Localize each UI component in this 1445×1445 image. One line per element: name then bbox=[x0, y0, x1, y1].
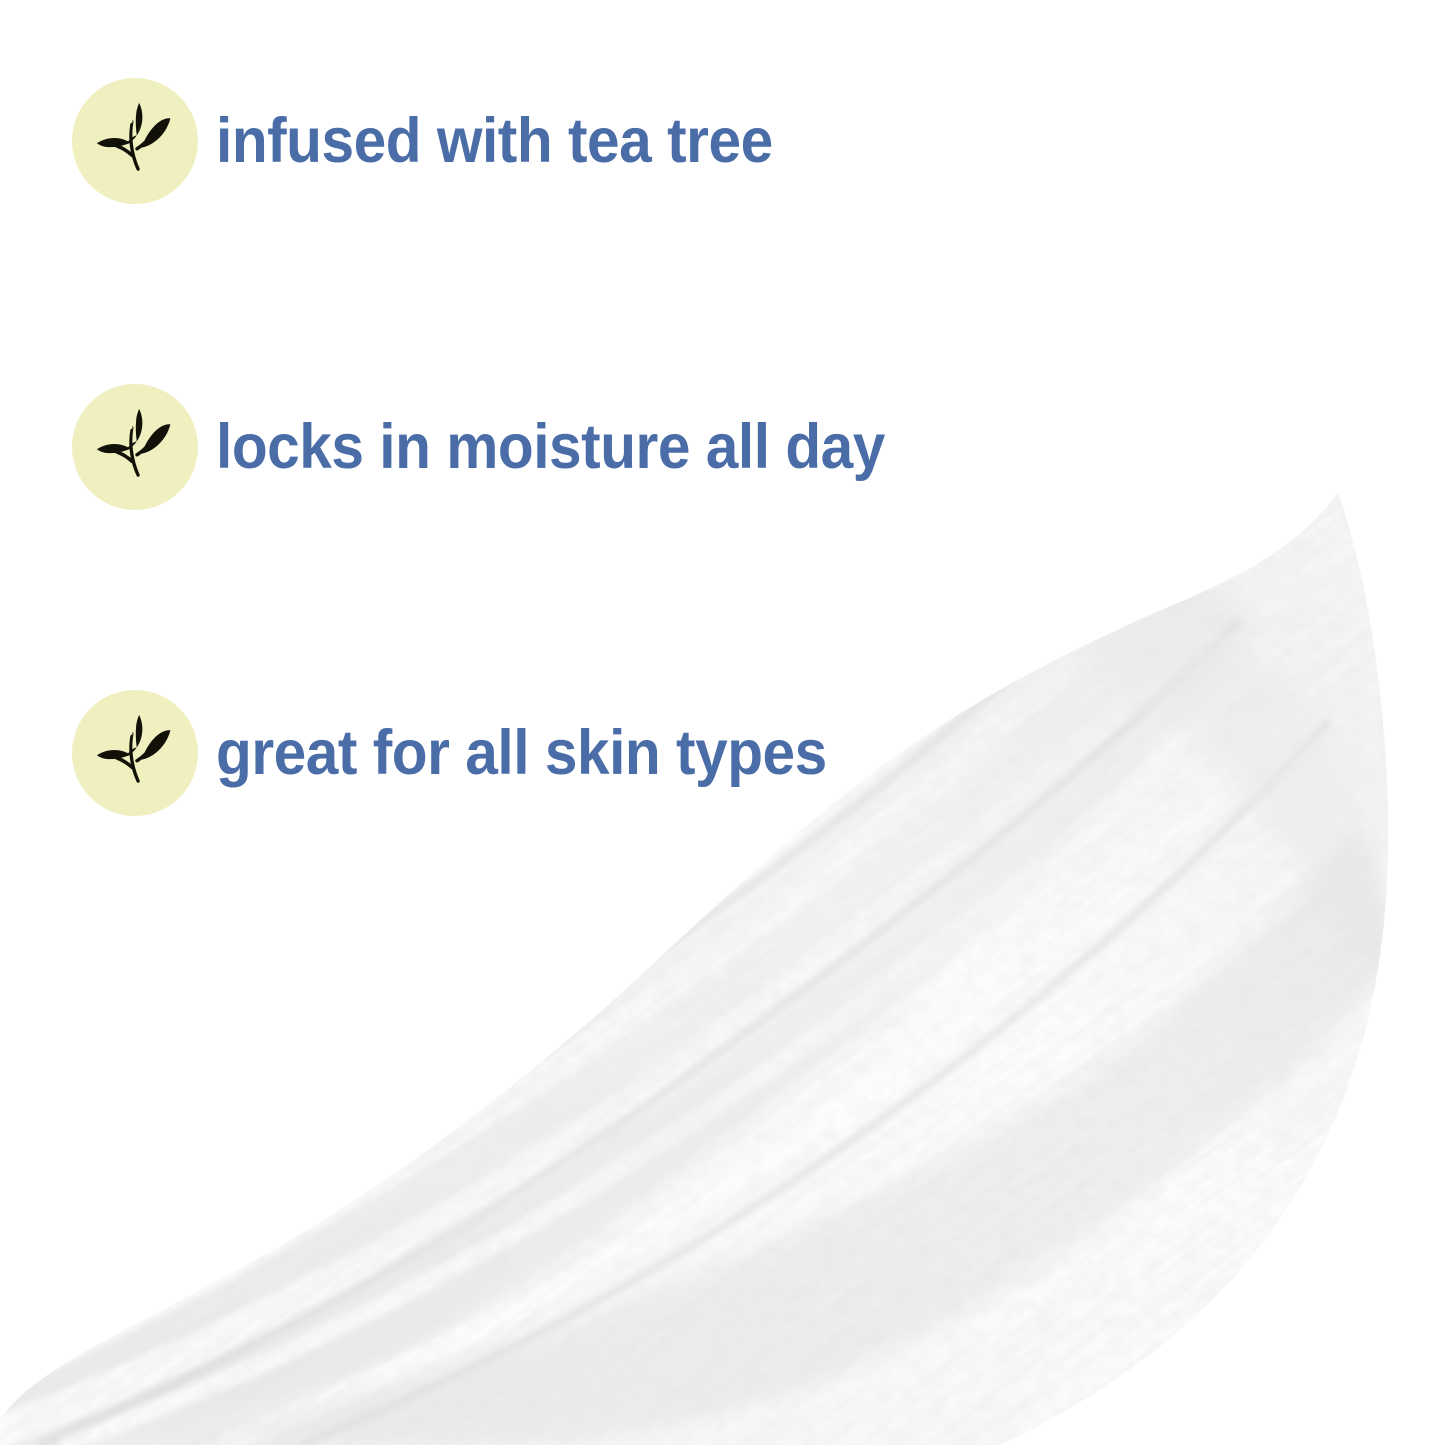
cream-texture-swatch bbox=[0, 430, 1445, 1445]
benefit-label: infused with tea tree bbox=[216, 110, 773, 173]
cream-body bbox=[0, 430, 1445, 1445]
benefit-row: great for all skin types bbox=[72, 690, 873, 816]
tea-leaf-sprig-icon bbox=[89, 401, 181, 493]
tea-leaf-sprig-icon bbox=[89, 707, 181, 799]
tea-leaf-badge bbox=[72, 78, 198, 204]
benefit-row: locks in moisture all day bbox=[72, 384, 935, 510]
benefit-row: infused with tea tree bbox=[72, 78, 815, 204]
tea-leaf-badge bbox=[72, 384, 198, 510]
tea-leaf-badge bbox=[72, 690, 198, 816]
benefit-label: locks in moisture all day bbox=[216, 416, 885, 479]
tea-leaf-sprig-icon bbox=[89, 95, 181, 187]
product-benefits-image: infused with tea tree locks in moisture … bbox=[0, 0, 1445, 1445]
benefit-label: great for all skin types bbox=[216, 722, 827, 785]
